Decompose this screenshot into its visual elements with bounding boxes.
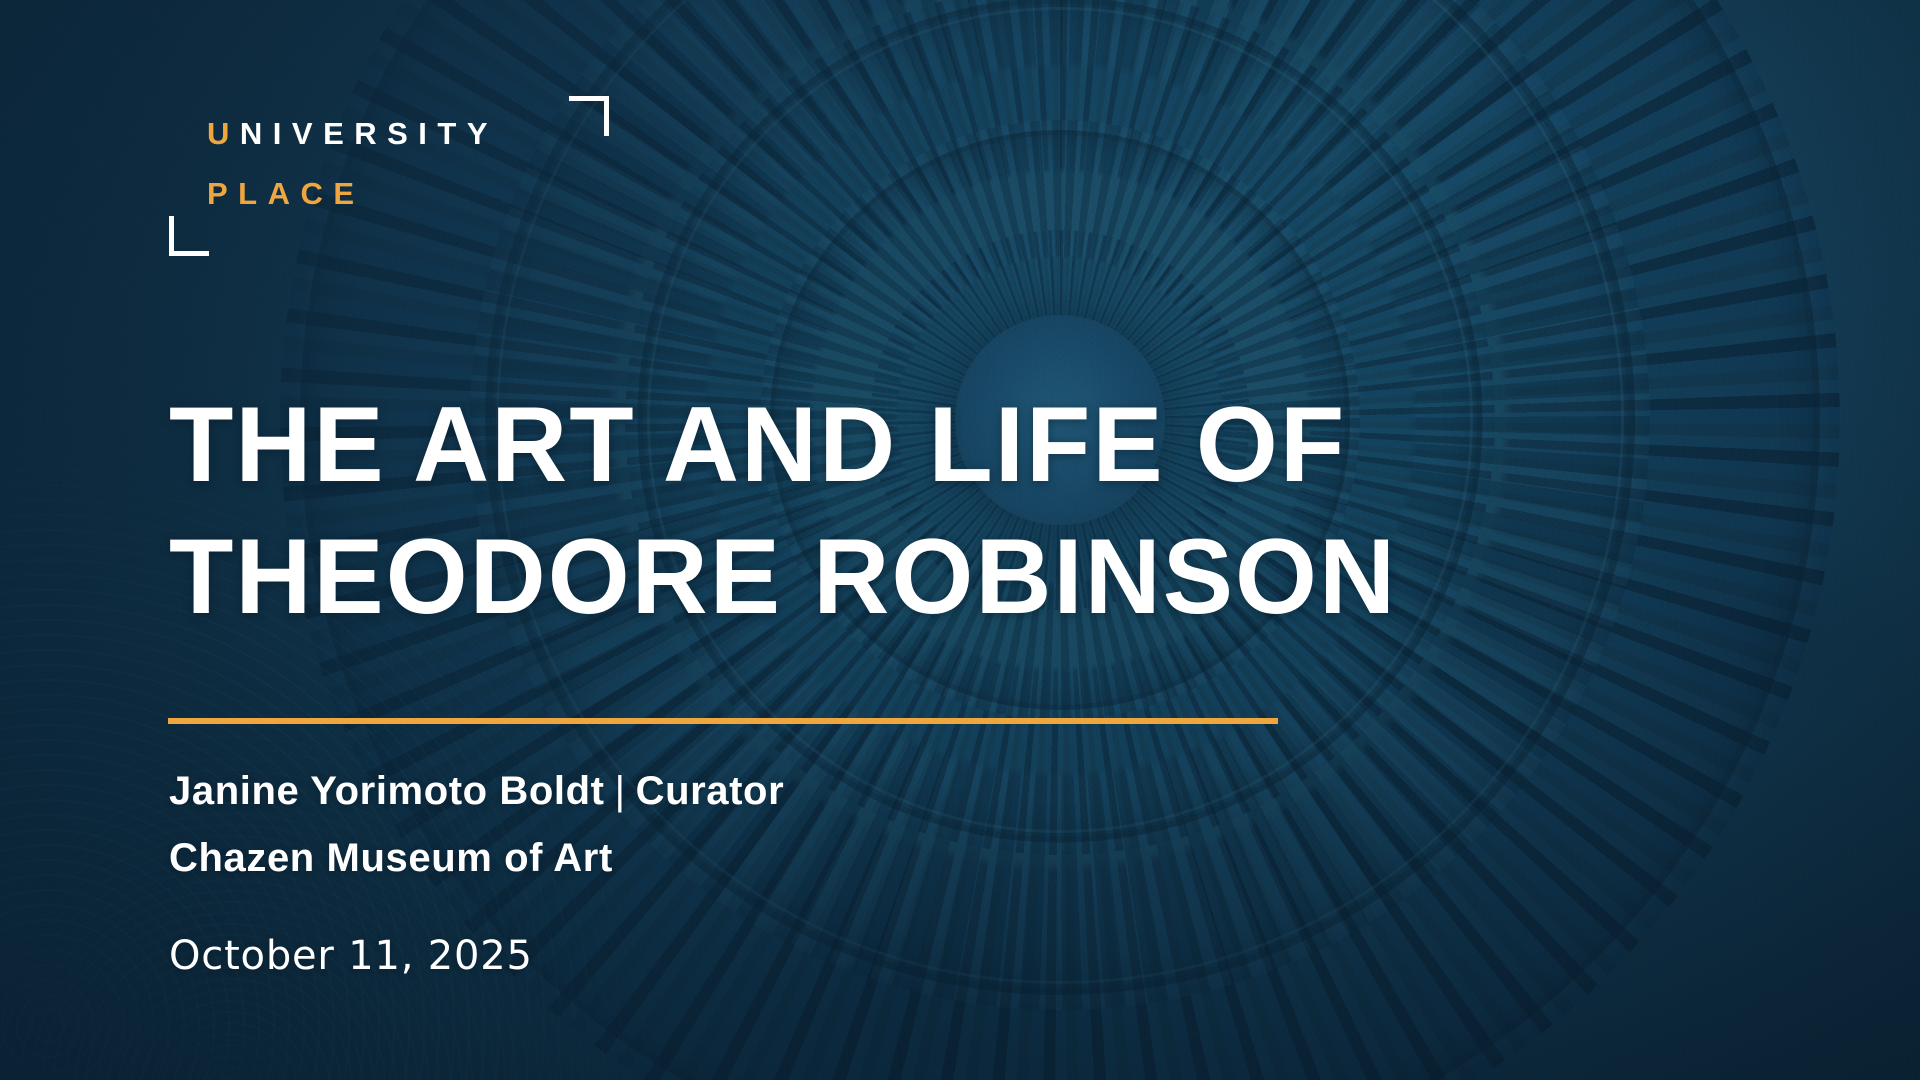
event-date: October 11, 2025 [169,931,533,981]
accent-divider [168,718,1278,724]
logo-line-place: PLACE [207,178,365,209]
corner-bracket-bottom-left-icon [169,216,209,256]
title-slide: UNIVERSITY PLACE THE ART AND LIFE OF THE… [0,0,1920,1080]
title-line-1: THE ART AND LIFE OF [169,378,1548,510]
affiliation-line: Chazen Museum of Art [169,825,784,892]
credits-block: Janine Yorimoto Boldt|Curator Chazen Mus… [169,758,784,892]
logo-line-university-rest: NIVERSITY [240,116,498,151]
logo-line-university: UNIVERSITY [207,118,498,149]
corner-bracket-top-right-icon [569,96,609,136]
title-line-2: THEODORE ROBINSON [169,510,1548,642]
logo-accent-letter: U [207,116,240,151]
presenter-name: Janine Yorimoto Boldt [169,769,605,813]
presenter-line: Janine Yorimoto Boldt|Curator [169,758,784,825]
slide-content: UNIVERSITY PLACE THE ART AND LIFE OF THE… [0,0,1920,1080]
page-title: THE ART AND LIFE OF THEODORE ROBINSON [169,378,1569,642]
university-place-logo: UNIVERSITY PLACE [169,96,609,256]
credit-separator: | [605,769,636,813]
presenter-role: Curator [636,769,785,813]
